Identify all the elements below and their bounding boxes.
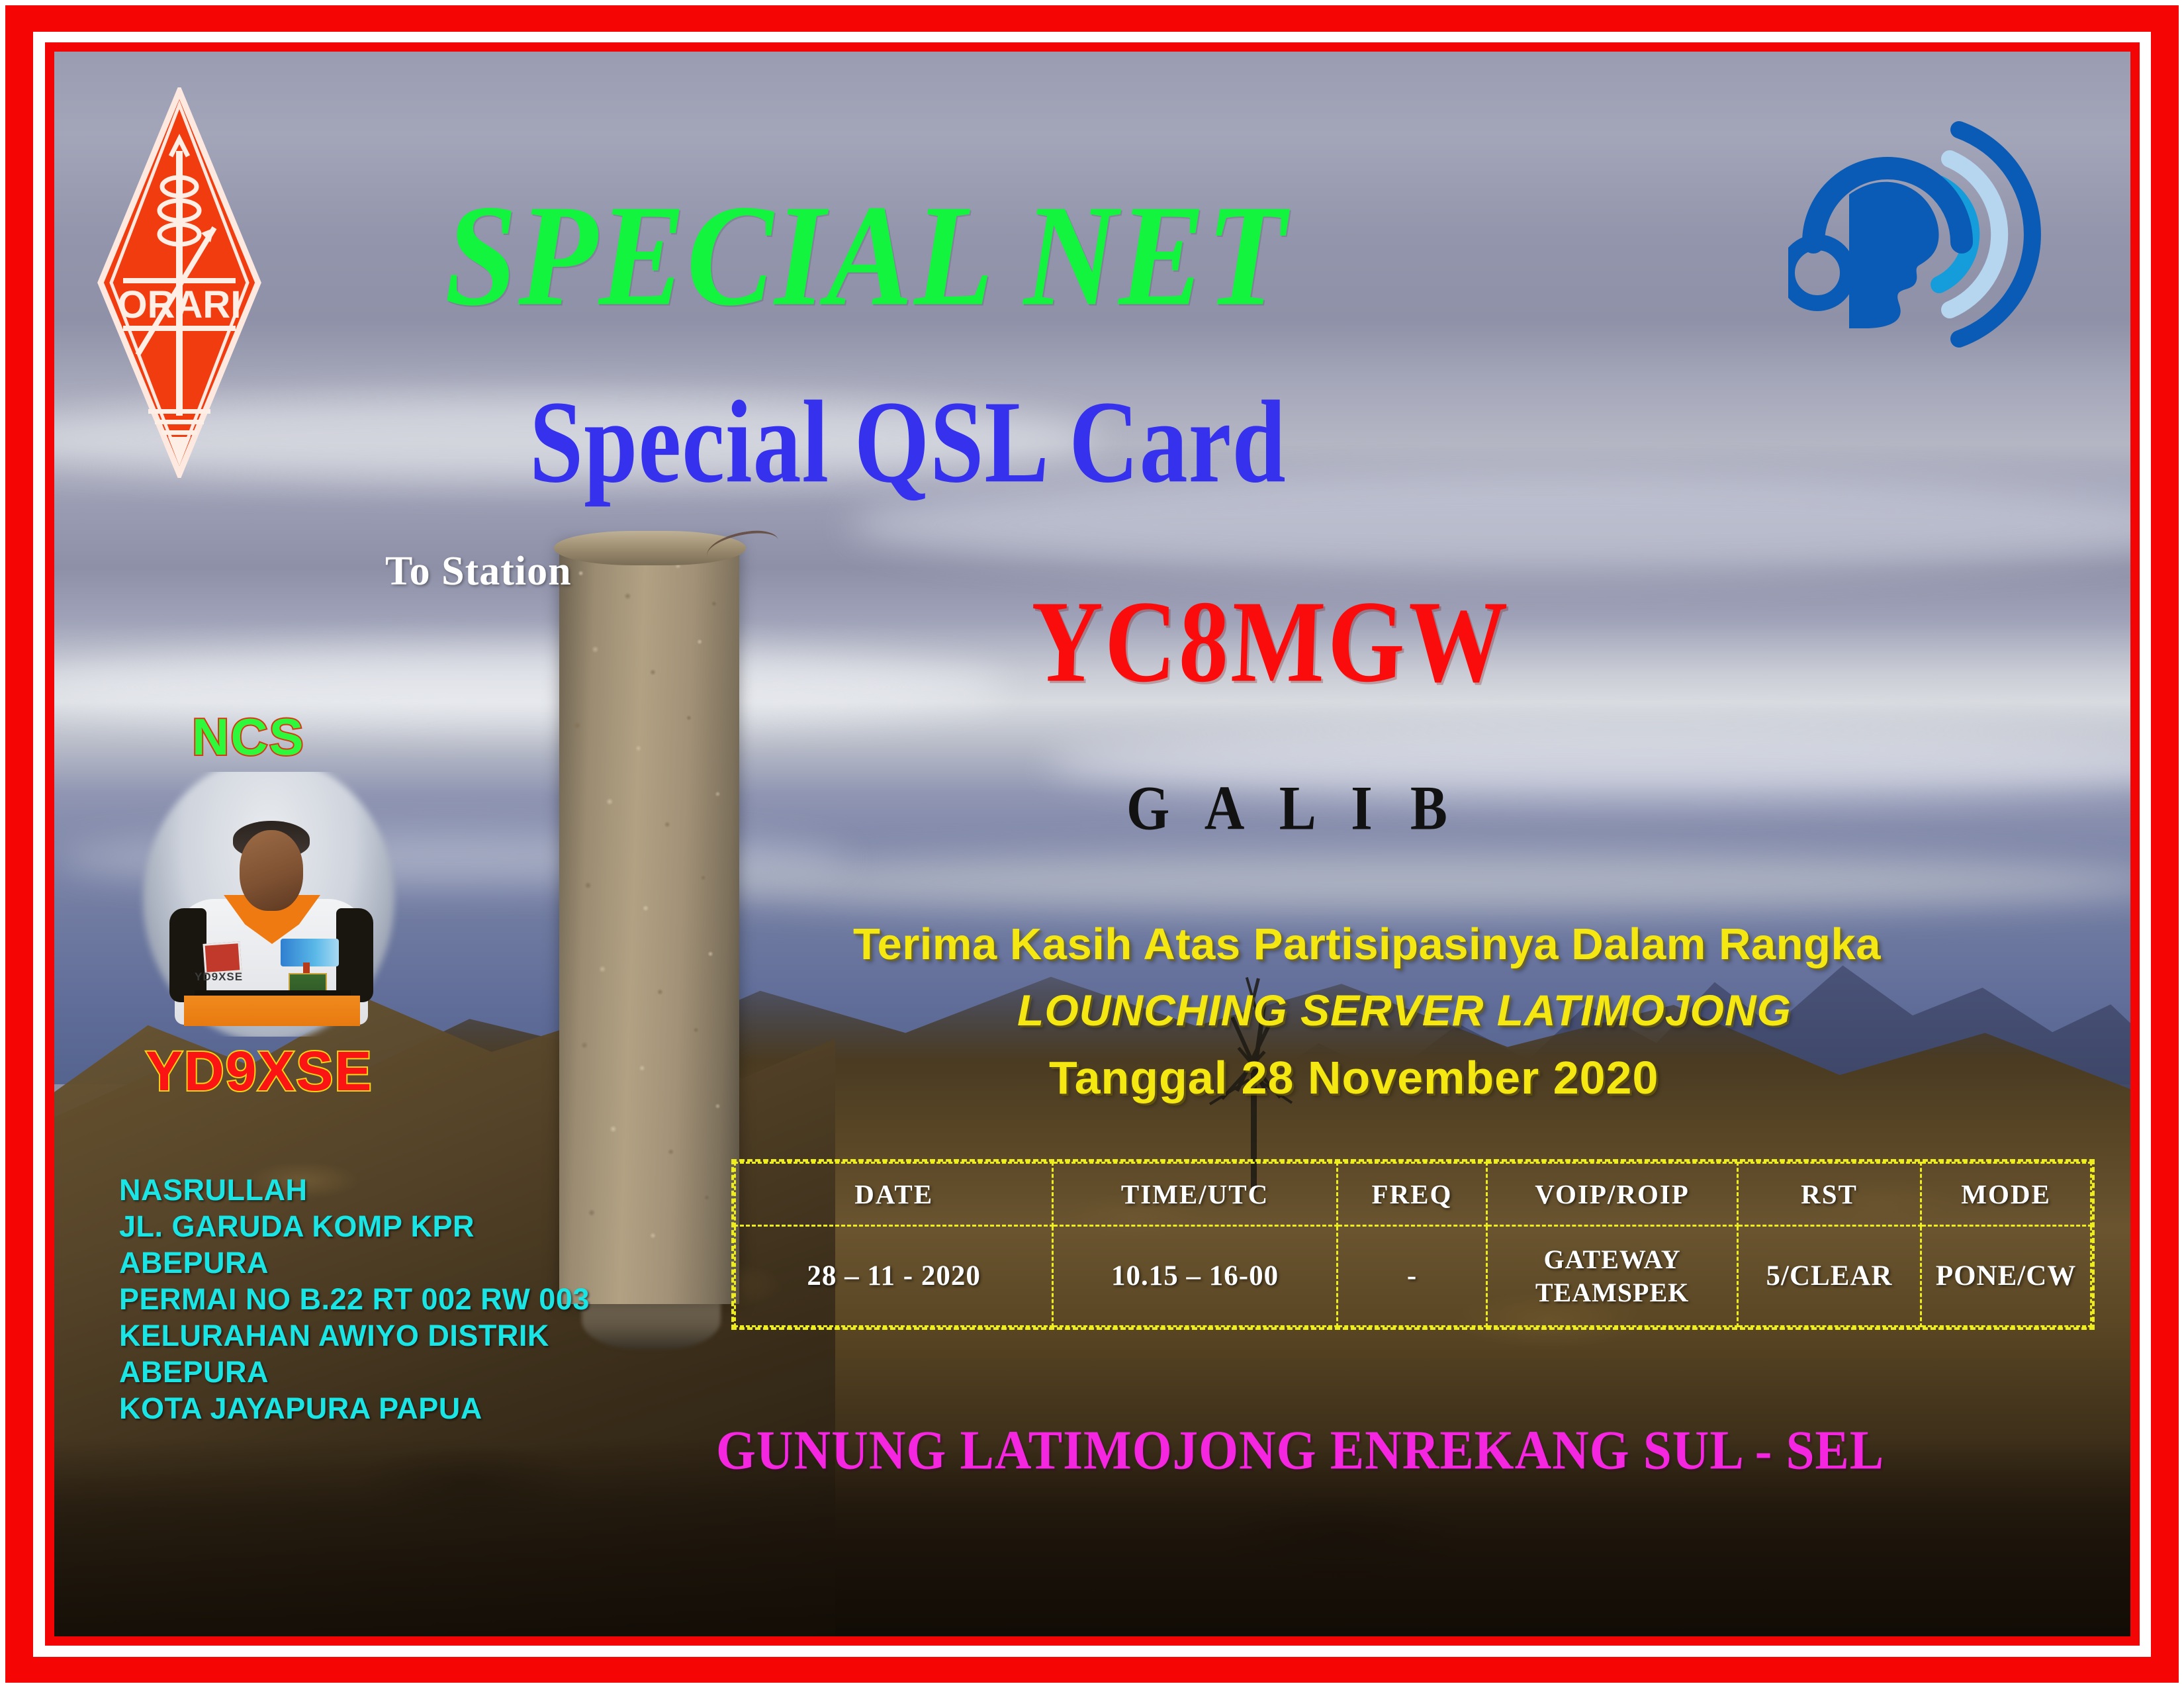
operator-chest-patch bbox=[281, 939, 339, 966]
cell-mode: PONE/CW bbox=[1921, 1226, 2091, 1327]
operator-address-block: NASRULLAH JL. GARUDA KOMP KPR ABEPURA PE… bbox=[119, 1172, 590, 1427]
qso-details-table: DATE TIME/UTC FREQ VOIP/ROIP RST MODE 28… bbox=[731, 1159, 2095, 1330]
club-motto: "AMATIR RADIO ADALAH PROGRESIVE" bbox=[134, 1630, 1197, 1636]
column-header-freq: FREQ bbox=[1337, 1163, 1486, 1226]
club-web-address: Address : amatir.latimojong.com bbox=[1298, 1627, 2060, 1636]
table-row: 28 – 11 - 2020 10.15 – 16-00 - GATEWAY T… bbox=[735, 1226, 2091, 1327]
card-background-photo: ORARI SPECIAL bbox=[54, 52, 2130, 1636]
address-line: KOTA JAYAPURA PAPUA bbox=[119, 1390, 590, 1427]
column-header-voip: VOIP/ROIP bbox=[1487, 1163, 1738, 1226]
location-caption: GUNUNG LATIMOJONG ENREKANG SUL - SEL bbox=[716, 1419, 1884, 1482]
column-header-mode: MODE bbox=[1921, 1163, 2091, 1226]
headphones-profile-soundwave-logo bbox=[1788, 95, 2066, 373]
page-title-special-net: SPECIAL NET bbox=[445, 172, 1287, 339]
worked-station-operator-name: G A L I B bbox=[1126, 772, 1459, 845]
ncs-operator-callsign: YD9XSE bbox=[146, 1039, 373, 1103]
event-name-line: LOUNCHING SERVER LATIMOJONG bbox=[1017, 985, 1792, 1035]
table-header-row: DATE TIME/UTC FREQ VOIP/ROIP RST MODE bbox=[735, 1163, 2091, 1226]
operator-face bbox=[240, 830, 303, 911]
qsl-card: ORARI SPECIAL bbox=[0, 0, 2184, 1688]
address-line: KELURAHAN AWIYO DISTRIK bbox=[119, 1317, 590, 1354]
cell-date: 28 – 11 - 2020 bbox=[735, 1226, 1053, 1327]
operator-sleeve-left bbox=[169, 908, 206, 1002]
event-date-line: Tanggal 28 November 2020 bbox=[1049, 1051, 1659, 1104]
operator-shoulder-badge bbox=[203, 941, 242, 974]
operator-shirt-callsign-tag: YD9XSE bbox=[195, 970, 243, 984]
address-line: JL. GARUDA KOMP KPR bbox=[119, 1208, 590, 1244]
to-station-label: To Station bbox=[385, 548, 572, 595]
column-header-time: TIME/UTC bbox=[1053, 1163, 1338, 1226]
cell-rst: 5/CLEAR bbox=[1737, 1226, 1921, 1327]
ncs-role-label: NCS bbox=[192, 707, 305, 767]
operator-photo: YD9XSE bbox=[123, 772, 414, 1037]
cell-voip: GATEWAY TEAMSPEK bbox=[1487, 1226, 1738, 1327]
operator-belt bbox=[184, 996, 360, 1026]
orari-wordmark: ORARI bbox=[118, 283, 242, 326]
orari-diamond-logo: ORARI bbox=[97, 87, 262, 478]
cell-voip-line-2: TEAMSPEK bbox=[1488, 1276, 1737, 1309]
address-line: NASRULLAH bbox=[119, 1172, 590, 1208]
worked-station-callsign: YC8MGW bbox=[1028, 575, 1512, 709]
operator-sleeve-right bbox=[336, 908, 373, 1002]
cell-freq: - bbox=[1337, 1226, 1486, 1327]
cell-voip-line-1: GATEWAY bbox=[1488, 1243, 1737, 1276]
address-line: ABEPURA bbox=[119, 1244, 590, 1281]
address-line: ABEPURA bbox=[119, 1354, 590, 1390]
column-header-rst: RST bbox=[1737, 1163, 1921, 1226]
column-header-date: DATE bbox=[735, 1163, 1053, 1226]
cloud-band bbox=[650, 853, 2130, 912]
cell-time: 10.15 – 16-00 bbox=[1053, 1226, 1338, 1327]
address-line: PERMAI NO B.22 RT 002 RW 003 bbox=[119, 1281, 590, 1317]
page-subtitle-special-qsl-card: Special QSL Card bbox=[529, 374, 1287, 510]
thanks-line-1: Terima Kasih Atas Partisipasinya Dalam R… bbox=[853, 919, 1881, 970]
